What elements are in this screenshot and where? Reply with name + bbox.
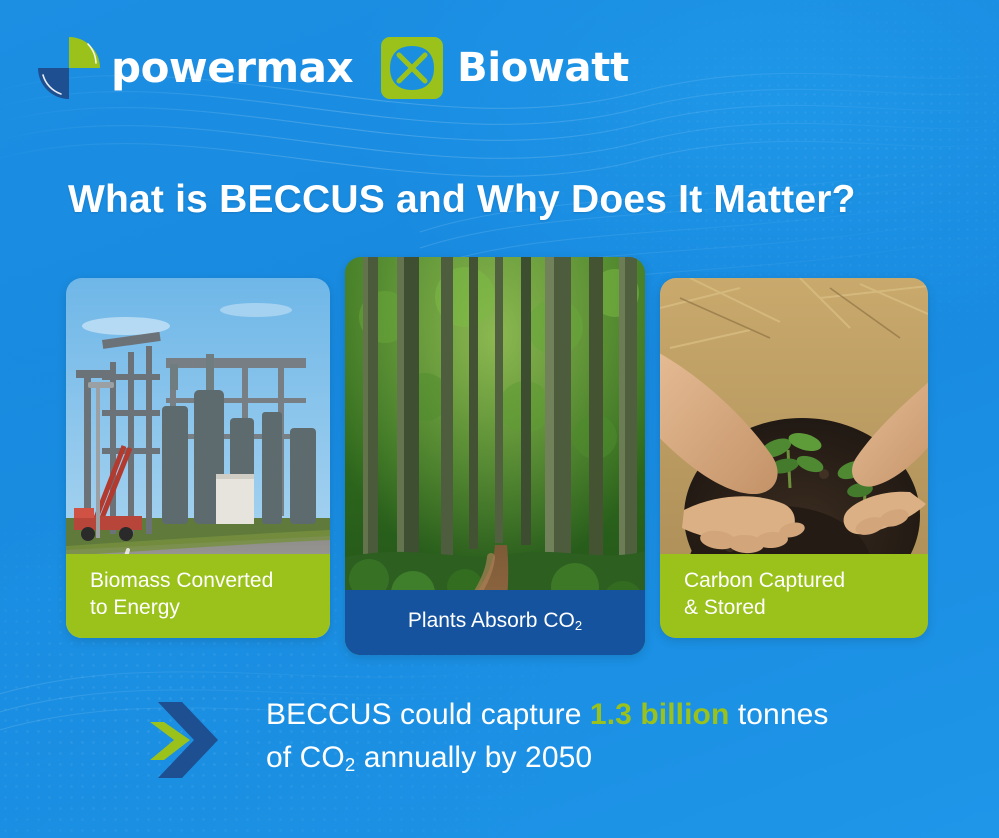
infographic-slide: powermax Biowatt What is BECCUS and Why … <box>0 0 999 838</box>
footer-line2-subscript: 2 <box>345 754 355 775</box>
card-biomass-caption-line2: to Energy <box>90 596 180 619</box>
card-carbon-caption-line1: Carbon Captured <box>684 569 845 592</box>
card-biomass-caption-line1: Biomass Converted <box>90 569 273 592</box>
footer-line2-after: annually by 2050 <box>355 741 592 774</box>
footer-highlight-value: 1.3 billion <box>590 698 729 731</box>
card-biomass[interactable]: Biomass Converted to Energy <box>66 278 330 638</box>
card-plants[interactable]: Plants Absorb CO2 <box>345 257 645 655</box>
footer-line1-before: BECCUS could capture <box>266 698 590 731</box>
card-plants-caption-text: Plants Absorb CO <box>408 609 575 632</box>
card-plants-caption: Plants Absorb CO2 <box>345 590 645 655</box>
footer-line1-after: tonnes <box>729 698 828 731</box>
footer-text: BECCUS could capture 1.3 billion tonnes … <box>266 694 829 779</box>
card-carbon[interactable]: Carbon Captured & Stored <box>660 278 928 638</box>
card-carbon-caption: Carbon Captured & Stored <box>660 554 928 638</box>
footer-line2-before: of CO <box>266 741 345 774</box>
card-carbon-caption-line2: & Stored <box>684 596 766 619</box>
double-chevron-right-icon <box>148 698 240 782</box>
card-biomass-caption: Biomass Converted to Energy <box>66 554 330 638</box>
card-plants-caption-subscript: 2 <box>575 618 582 633</box>
footer-statistic: BECCUS could capture 1.3 billion tonnes … <box>148 694 829 782</box>
